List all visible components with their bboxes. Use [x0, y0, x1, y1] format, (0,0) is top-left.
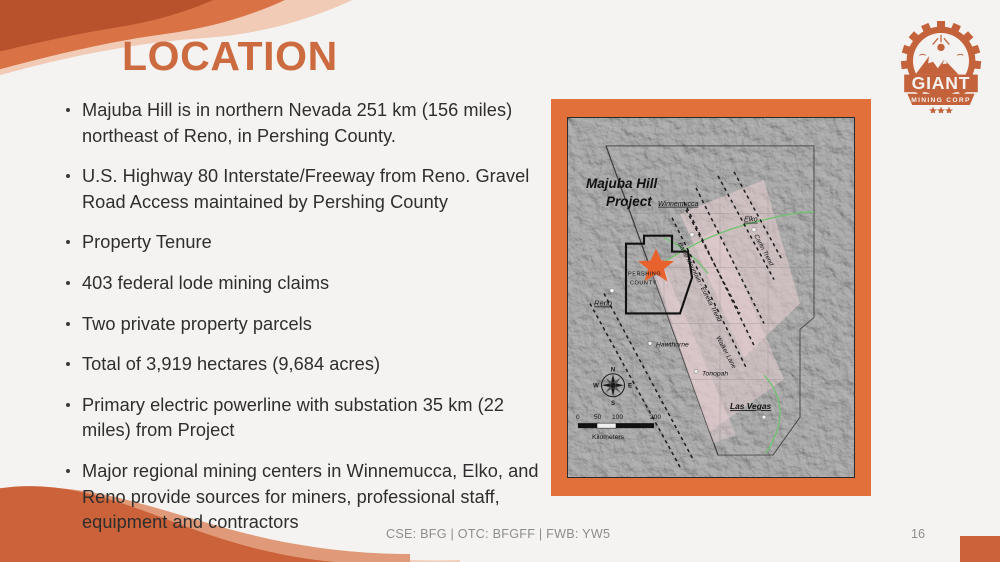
decorative-wave-bottom-right — [960, 536, 1000, 562]
compass-west: W — [593, 384, 599, 390]
map-city-elko: Elko — [744, 217, 758, 224]
logo-tagline: MINING CORP — [911, 97, 971, 104]
list-item: Primary electric powerline with substati… — [60, 393, 540, 444]
scale-tick-100: 100 — [612, 414, 623, 421]
footer-ticker: CSE: BFG | OTC: BFGFF | FWB: YW5 — [386, 527, 610, 541]
list-item: Majuba Hill is in northern Nevada 251 km… — [60, 98, 540, 149]
compass-north: N — [611, 367, 615, 373]
map-city-tonopah: Tonopah — [702, 370, 728, 377]
map-city-hawthorne: Hawthorne — [656, 341, 689, 348]
map-image: Majuba Hill Project Winnemucca Elko Reno… — [567, 117, 855, 478]
page-title: LOCATION — [122, 36, 338, 77]
company-logo: GIANT MINING CORP — [893, 17, 989, 113]
page-number: 16 — [911, 527, 925, 541]
map-city-las-vegas: Las Vegas — [730, 401, 772, 411]
list-item: Property Tenure — [60, 230, 540, 256]
nevada-map-svg: Majuba Hill Project Winnemucca Elko Reno… — [568, 118, 854, 477]
list-item: Major regional mining centers in Winnemu… — [60, 459, 540, 536]
logo-name: GIANT — [912, 73, 971, 93]
map-county-label-2: COUNTY — [630, 281, 657, 287]
map-project-label-1: Majuba Hill — [586, 176, 657, 191]
list-item: Total of 3,919 hectares (9,684 acres) — [60, 352, 540, 378]
logo-stars — [929, 107, 953, 113]
list-item: U.S. Highway 80 Interstate/Freeway from … — [60, 164, 540, 215]
scale-tick-0: 0 — [576, 414, 580, 421]
map-county-label-1: PERSHING — [628, 272, 661, 278]
map-city-winnemucca: Winnemucca — [658, 201, 698, 208]
map-frame: Majuba Hill Project Winnemucca Elko Reno… — [551, 99, 871, 496]
scale-units: Kilometers — [592, 434, 625, 441]
map-city-reno: Reno — [594, 298, 612, 307]
list-item: 403 federal lode mining claims — [60, 271, 540, 297]
scale-tick-200: 200 — [650, 414, 661, 421]
compass-south: S — [611, 401, 615, 407]
slide: LOCATION Majuba Hill is in northern Neva… — [0, 0, 1000, 562]
bullet-list: Majuba Hill is in northern Nevada 251 km… — [60, 98, 540, 551]
compass-east: E — [628, 384, 632, 390]
scale-tick-50: 50 — [594, 414, 602, 421]
logo-ribbon: MINING CORP — [907, 94, 974, 105]
map-project-label-2: Project — [606, 194, 652, 209]
list-item: Two private property parcels — [60, 312, 540, 338]
